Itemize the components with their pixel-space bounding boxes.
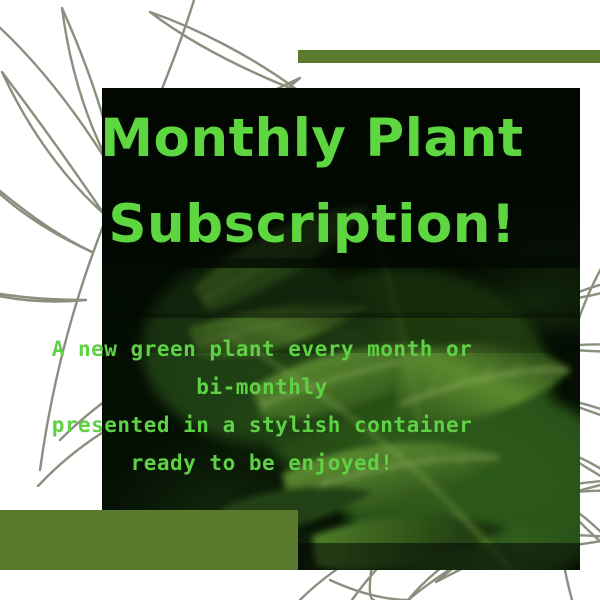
page-title: Monthly Plant Subscription! (62, 96, 562, 268)
accent-bar-top (298, 50, 600, 63)
accent-bar-bottom (0, 510, 298, 570)
body-copy: A new green plant every month or bi-mont… (0, 330, 524, 482)
poster-canvas: Monthly Plant Subscription! A new green … (0, 0, 600, 600)
